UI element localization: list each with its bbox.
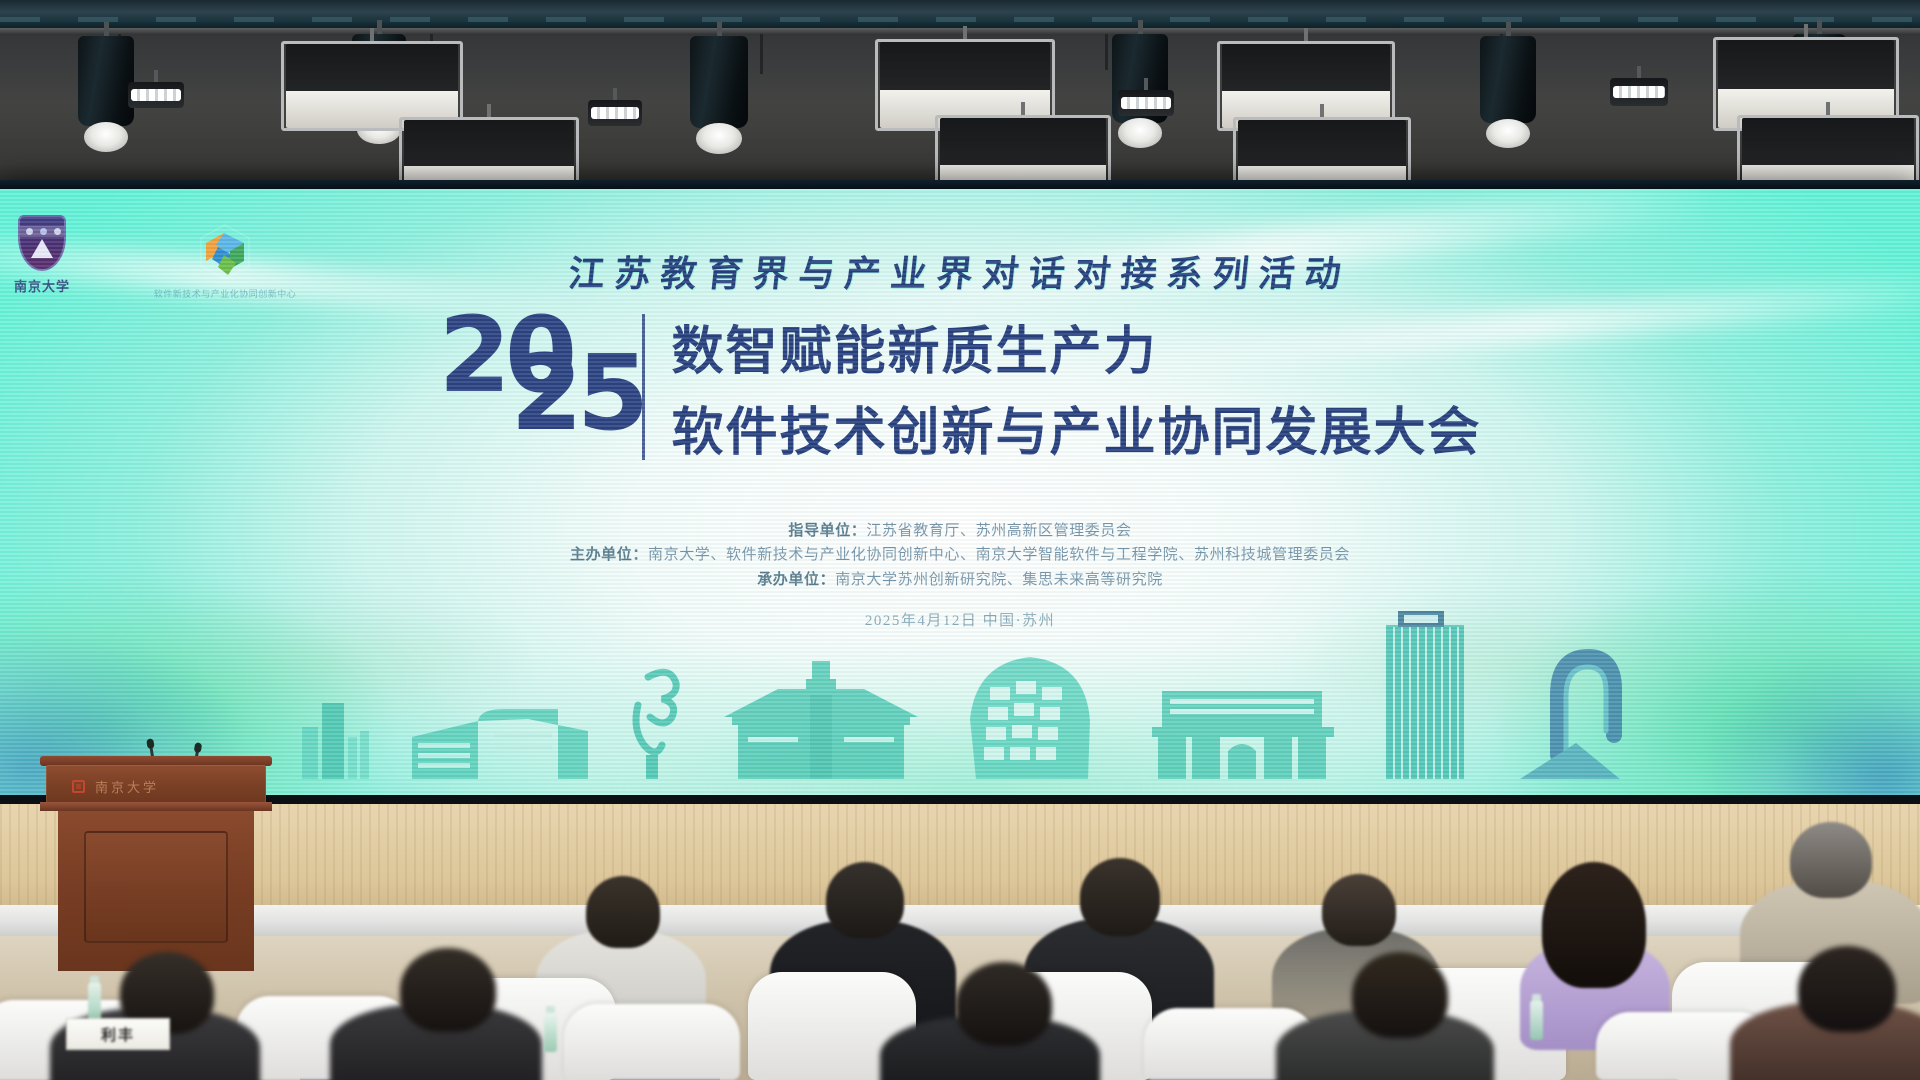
led-bar-fixture: [1610, 78, 1668, 106]
audience-person-head: [956, 962, 1052, 1046]
year-part-2: 25: [510, 346, 643, 442]
ceiling-lighting-rig: [0, 0, 1920, 186]
led-bar-fixture: [128, 82, 184, 108]
panel-light-fixture: [286, 44, 458, 128]
podium-inset-panel: [84, 831, 228, 943]
audience-person-head: [1322, 874, 1396, 946]
podium-plaque: 南京大学: [72, 777, 242, 795]
podium-body: [58, 811, 254, 971]
audience-person-head: [1080, 858, 1160, 936]
name-card-text: 利丰: [101, 1024, 135, 1045]
organizer-value: 南京大学苏州创新研究院、集思未来高等研究院: [835, 572, 1163, 588]
podium-lip: [40, 802, 272, 811]
audience-person-head: [826, 862, 904, 938]
screen-content: 南京大学 软件新技术与产业化协同创新中心: [0, 189, 1920, 795]
suzhou-skyline-graphic: [0, 619, 1920, 779]
audience-person-head: [1352, 952, 1448, 1038]
name-card: 利丰: [66, 1018, 170, 1050]
organizer-value: 南京大学、软件新技术与产业化协同创新中心、南京大学智能软件与工程学院、苏州科技城…: [648, 547, 1350, 563]
title-line-2: 软件技术创新与产业协同发展大会: [671, 390, 1481, 465]
led-stage-screen: 南京大学 软件新技术与产业化协同创新中心: [0, 180, 1920, 804]
organizer-label: 主办单位：: [570, 547, 648, 563]
organizer-label: 指导单位：: [788, 523, 866, 539]
organizer-list: 指导单位：江苏省教育厅、苏州高新区管理委员会 主办单位：南京大学、软件新技术与产…: [0, 519, 1920, 592]
water-bottle: [88, 982, 101, 1022]
spot-light-fixture: [78, 36, 134, 152]
organizer-label: 承办单位：: [757, 572, 835, 588]
screen-bezel: [0, 180, 1920, 189]
audience-chair: [564, 1004, 740, 1080]
conference-hall-scene: 南京大学 软件新技术与产业化协同创新中心: [0, 0, 1920, 1080]
panel-light-fixture: [404, 120, 574, 186]
organizer-line: 主办单位：南京大学、软件新技术与产业化协同创新中心、南京大学智能软件与工程学院、…: [0, 543, 1920, 567]
exhibition-center-icon: [1136, 669, 1342, 779]
audience-person-head-long-hair: [1542, 862, 1646, 988]
podium-plaque-text: 南京大学: [95, 777, 159, 796]
organizer-line: 承办单位：南京大学苏州创新研究院、集思未来高等研究院: [0, 568, 1920, 592]
event-series-kicker: 江苏教育界与产业界对话对接系列活动: [0, 245, 1920, 297]
horseshoe-monument-icon: [1514, 639, 1624, 779]
lighting-rail: [0, 28, 1920, 35]
panel-light-fixture: [1238, 120, 1406, 186]
podium-front-panel: 南京大学: [46, 765, 266, 803]
spot-light-fixture: [690, 36, 748, 154]
main-title-block: 20 25 数智赋能新质生产力 软件技术创新与产业协同发展大会: [0, 309, 1920, 465]
audience-person-head: [1790, 822, 1872, 898]
traditional-gate-hall-icon: [718, 655, 924, 779]
modern-hall-icon: [408, 675, 592, 779]
lighting-truss: [0, 0, 1920, 30]
water-bottle: [1530, 1000, 1543, 1040]
audience-person-head: [400, 948, 496, 1032]
audience-person-head: [586, 876, 660, 948]
panel-light-fixture: [1742, 118, 1914, 186]
lamp-cable: [1105, 34, 1108, 70]
organizer-line: 指导单位：江苏省教育厅、苏州高新区管理委员会: [0, 519, 1920, 543]
led-bar-fixture: [1118, 90, 1174, 116]
led-bar-fixture: [588, 100, 642, 126]
audience-person-head: [1798, 946, 1896, 1032]
year-2025: 20 25: [438, 312, 616, 462]
office-towers-icon: [296, 675, 382, 779]
sculpture-monument-icon: [618, 659, 692, 779]
title-line-1: 数智赋能新质生产力: [671, 309, 1481, 384]
title-lines: 数智赋能新质生产力 软件技术创新与产业协同发展大会: [671, 309, 1481, 465]
oriental-gate-dome-icon: [950, 647, 1110, 779]
speaker-podium: 南京大学: [40, 756, 272, 986]
organizer-value: 江苏省教育厅、苏州高新区管理委员会: [866, 523, 1131, 539]
spot-light-fixture: [1480, 36, 1536, 148]
gate-of-the-orient-tower-icon: [1368, 611, 1488, 779]
red-seal-icon: [72, 780, 85, 793]
title-divider: [642, 314, 645, 460]
panel-light-fixture: [1222, 44, 1390, 128]
lamp-cable: [760, 34, 763, 74]
water-bottle: [544, 1012, 557, 1052]
panel-light-fixture: [940, 118, 1106, 186]
